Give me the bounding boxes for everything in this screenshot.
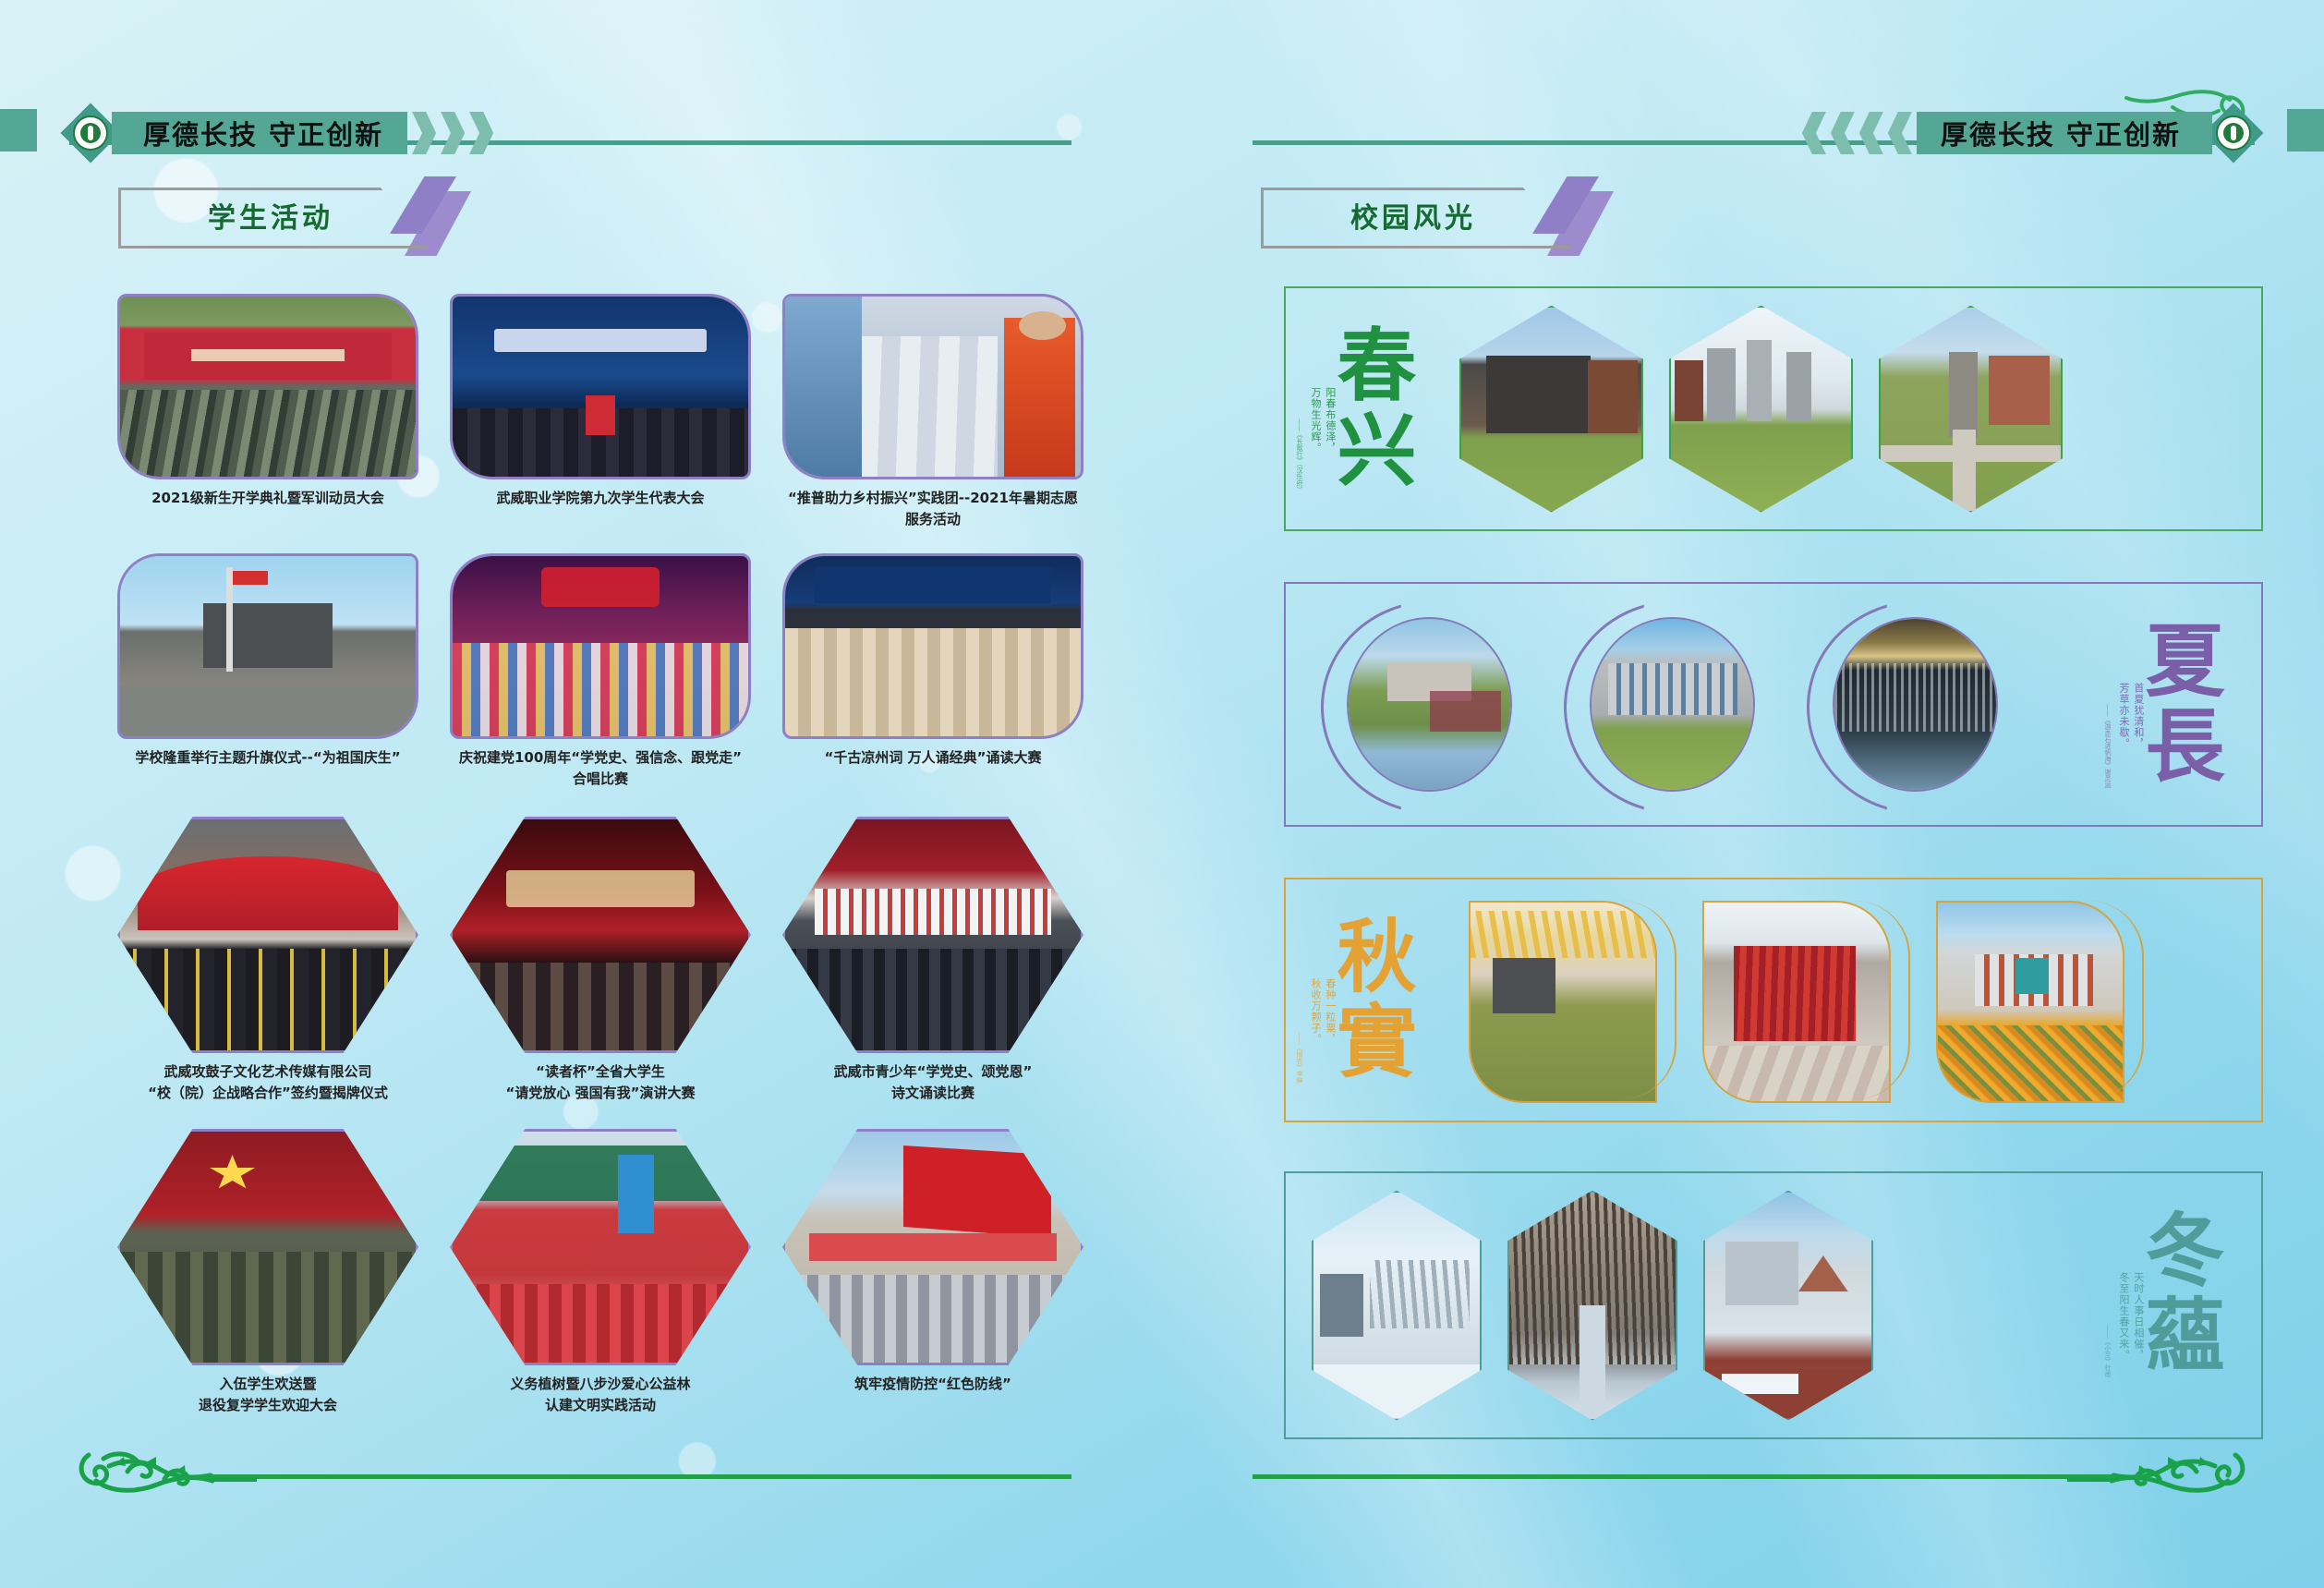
student-congress-photo[interactable] xyxy=(450,294,751,479)
section-title-campus-scenery: 校园风光 xyxy=(1261,188,1566,243)
chevron-icon-1 xyxy=(412,112,436,154)
season-poem-winter: 天时人事日相催， 冬至阳生春又来。 xyxy=(2116,1272,2146,1376)
season-poem-summer: 首夏犹清和， 芳草亦未歇。 xyxy=(2116,683,2146,786)
season-photos-summer xyxy=(1321,582,2024,827)
season-panel-spring: 春兴 阳春布德泽， 万物生光辉。 ——《长歌行》（汉乐府） xyxy=(1284,286,2263,531)
activity-caption-10: 义务植树暨八步沙爱心公益林 认建文明实践活动 xyxy=(510,1374,690,1415)
summer-oval-frame-1 xyxy=(1321,600,1538,808)
section-title-left-label: 学生活动 xyxy=(118,188,423,243)
summer-oval-frame-2 xyxy=(1564,600,1781,808)
autumn-leaf-frame-2 xyxy=(1702,901,1910,1099)
signing-ceremony-photo[interactable] xyxy=(117,817,418,1053)
recitation-contest-photo[interactable] xyxy=(782,553,1083,739)
chevron-icon-6 xyxy=(1831,112,1855,154)
tree-planting-photo[interactable] xyxy=(450,1129,751,1365)
season-photos-spring xyxy=(1459,286,2063,531)
chevron-icon-7 xyxy=(1802,112,1826,154)
activity-caption-2: “推普助力乡村振兴”实践团--2021年暑期志愿服务活动 xyxy=(785,488,1081,529)
school-emblem-icon-right xyxy=(2203,103,2263,163)
putonghua-volunteer-photo[interactable] xyxy=(782,294,1083,479)
activity-cell-3: 学校隆重举行主题升旗仪式--“为祖国庆生” xyxy=(120,553,416,789)
season-photos-autumn xyxy=(1469,878,2144,1122)
season-name-winter: 冬蘊 xyxy=(2141,1208,2214,1378)
enlistment-farewell-photo[interactable] xyxy=(117,1129,418,1365)
chevron-icon-4 xyxy=(1888,112,1912,154)
season-panel-winter: 冬蘊 天时人事日相催， 冬至阳生春又来。 ——《小至》杜甫 xyxy=(1284,1171,2263,1439)
winter-avenue-photo[interactable] xyxy=(1507,1191,1677,1421)
footer-rule-left xyxy=(212,1474,1071,1479)
opening-ceremony-photo[interactable] xyxy=(117,294,418,479)
season-source-winter: ——《小至》杜甫 xyxy=(2103,1326,2112,1377)
spring-plaza-towers-photo[interactable] xyxy=(1669,306,1853,513)
autumn-leaf-tail-3 xyxy=(2087,901,2144,1099)
chevron-icon-3 xyxy=(469,112,493,154)
summer-waterfall-photo[interactable] xyxy=(1833,617,1998,792)
chevron-icon-2 xyxy=(441,112,465,154)
footer-rule-right xyxy=(1253,1474,2112,1479)
activity-caption-11: 筑牢疫情防控“红色防线” xyxy=(854,1374,1011,1395)
section-title-right-label: 校园风光 xyxy=(1261,188,1566,243)
season-name-summer: 夏長 xyxy=(2141,619,2214,789)
flourish-ornament-bottom-right xyxy=(2067,1438,2252,1503)
header-right-band: 厚德长技 守正创新 xyxy=(1917,112,2212,154)
flag-raising-photo[interactable] xyxy=(117,553,418,739)
summer-oval-frame-3 xyxy=(1807,600,2024,808)
winter-pavilion-photo[interactable] xyxy=(1703,1191,1873,1421)
activity-cell-8: 武威市青少年“学党史、颂党恩” 诗文诵读比赛 xyxy=(785,817,1081,1103)
activity-caption-4: 庆祝建党100周年“学党史、强信念、跟党走” 合唱比赛 xyxy=(459,747,742,789)
activity-caption-7: “读者杯”全省大学生 “请党放心 强国有我”演讲大赛 xyxy=(506,1061,696,1103)
chorus-contest-photo[interactable] xyxy=(450,553,751,739)
activity-caption-5: “千古凉州词 万人诵经典”诵读大赛 xyxy=(825,747,1042,769)
activity-cell-2: “推普助力乡村振兴”实践团--2021年暑期志愿服务活动 xyxy=(785,294,1081,529)
youth-poetry-photo[interactable] xyxy=(782,817,1083,1053)
activity-caption-3: 学校隆重举行主题升旗仪式--“为祖国庆生” xyxy=(135,747,400,769)
season-poem-autumn: 春种一粒粟， 秋收万颗子。 xyxy=(1308,978,1338,1082)
activity-cell-9: 入伍学生欢送暨 退役复学学生欢迎大会 xyxy=(120,1129,416,1415)
autumn-leaf-frame-3 xyxy=(1936,901,2144,1099)
season-calligraphy-summer: 夏長 首夏犹清和， 芳草亦未歇。 ——《游赤石进帆海》谢灵运 xyxy=(2101,595,2254,812)
activity-caption-6: 武威攻鼓子文化艺术传媒有限公司 “校（院）企战略合作”签约暨揭牌仪式 xyxy=(148,1061,388,1103)
activity-cell-10: 义务植树暨八步沙爱心公益林 认建文明实践活动 xyxy=(453,1129,748,1415)
epidemic-prevention-photo[interactable] xyxy=(782,1129,1083,1365)
summer-teaching-building-photo[interactable] xyxy=(1590,617,1755,792)
motto-text-left: 厚德长技 守正创新 xyxy=(143,114,383,152)
chevron-icon-5 xyxy=(1859,112,1883,154)
school-emblem-icon xyxy=(60,103,120,163)
season-source-summer: ——《游赤石进帆海》谢灵运 xyxy=(2103,704,2112,788)
season-source-autumn: ——《悯农》李绅 xyxy=(1295,1032,1304,1084)
season-calligraphy-winter: 冬蘊 天时人事日相催， 冬至阳生春又来。 ——《小至》杜甫 xyxy=(2101,1184,2254,1401)
activity-cell-1: 武威职业学院第九次学生代表大会 xyxy=(453,294,748,529)
season-panel-summer: 夏長 首夏犹清和， 芳草亦未歇。 ——《游赤石进帆海》谢灵运 xyxy=(1284,582,2263,827)
activity-caption-0: 2021级新生开学典礼暨军训动员大会 xyxy=(151,488,384,509)
season-calligraphy-autumn: 秋實 春种一粒粟， 秋收万颗子。 ——《悯农》李绅 xyxy=(1293,891,1446,1108)
activity-cell-11: 筑牢疫情防控“红色防线” xyxy=(785,1129,1081,1415)
header-left-band: 厚德长技 守正创新 xyxy=(112,112,407,154)
activity-cell-7: “读者杯”全省大学生 “请党放心 强国有我”演讲大赛 xyxy=(453,817,748,1103)
activity-row-3: 武威攻鼓子文化艺术传媒有限公司 “校（院）企战略合作”签约暨揭牌仪式 “读者杯”… xyxy=(120,817,1081,1103)
season-poem-spring: 阳春布德泽， 万物生光辉。 xyxy=(1308,387,1338,491)
winter-frost-trees-photo[interactable] xyxy=(1312,1191,1482,1421)
flourish-ornament-bottom-left xyxy=(72,1438,257,1503)
activity-caption-8: 武威市青少年“学党史、颂党恩” 诗文诵读比赛 xyxy=(834,1061,1033,1103)
spring-aerial-path-photo[interactable] xyxy=(1879,306,2063,513)
activity-cell-4: 庆祝建党100周年“学党史、强信念、跟党走” 合唱比赛 xyxy=(453,553,748,789)
autumn-leaf-tail-1 xyxy=(1619,901,1676,1099)
header-left-edge-bar xyxy=(0,109,37,152)
activity-row-4: 入伍学生欢送暨 退役复学学生欢迎大会 义务植树暨八步沙爱心公益林 认建文明实践活… xyxy=(120,1129,1081,1415)
activity-caption-9: 入伍学生欢送暨 退役复学学生欢迎大会 xyxy=(199,1374,337,1415)
activity-caption-1: 武威职业学院第九次学生代表大会 xyxy=(496,488,704,509)
season-name-autumn: 秋實 xyxy=(1333,915,1406,1085)
autumn-leaf-tail-2 xyxy=(1853,901,1910,1099)
season-calligraphy-spring: 春兴 阳春布德泽， 万物生光辉。 ——《长歌行》（汉乐府） xyxy=(1293,299,1446,516)
season-panel-autumn: 秋實 春种一粒粟， 秋收万颗子。 ——《悯农》李绅 xyxy=(1284,878,2263,1122)
student-activities-grid: 2021级新生开学典礼暨军训动员大会 武威职业学院第九次学生代表大会 “推普助力… xyxy=(120,294,1081,1415)
header-right: 厚德长技 守正创新 xyxy=(1802,109,2255,157)
header-right-edge-bar xyxy=(2287,109,2324,152)
season-source-spring: ——《长歌行》（汉乐府） xyxy=(1295,418,1304,493)
activity-cell-6: 武威攻鼓子文化艺术传媒有限公司 “校（院）企战略合作”签约暨揭牌仪式 xyxy=(120,817,416,1103)
activity-cell-5: “千古凉州词 万人诵经典”诵读大赛 xyxy=(785,553,1081,789)
header-left: 厚德长技 守正创新 xyxy=(69,109,493,157)
activity-cell-0: 2021级新生开学典礼暨军训动员大会 xyxy=(120,294,416,529)
spring-campus-building-photo[interactable] xyxy=(1459,306,1643,513)
season-name-spring: 春兴 xyxy=(1333,323,1406,493)
section-title-student-activities: 学生活动 xyxy=(118,188,423,243)
speech-contest-photo[interactable] xyxy=(450,817,751,1053)
season-photos-winter xyxy=(1312,1171,1873,1439)
motto-text-right: 厚德长技 守正创新 xyxy=(1941,114,2181,152)
activity-row-2: 学校隆重举行主题升旗仪式--“为祖国庆生” 庆祝建党100周年“学党史、强信念、… xyxy=(120,553,1081,789)
summer-willow-pond-photo[interactable] xyxy=(1347,617,1512,792)
activity-row-1: 2021级新生开学典礼暨军训动员大会 武威职业学院第九次学生代表大会 “推普助力… xyxy=(120,294,1081,529)
autumn-leaf-frame-1 xyxy=(1469,901,1676,1099)
